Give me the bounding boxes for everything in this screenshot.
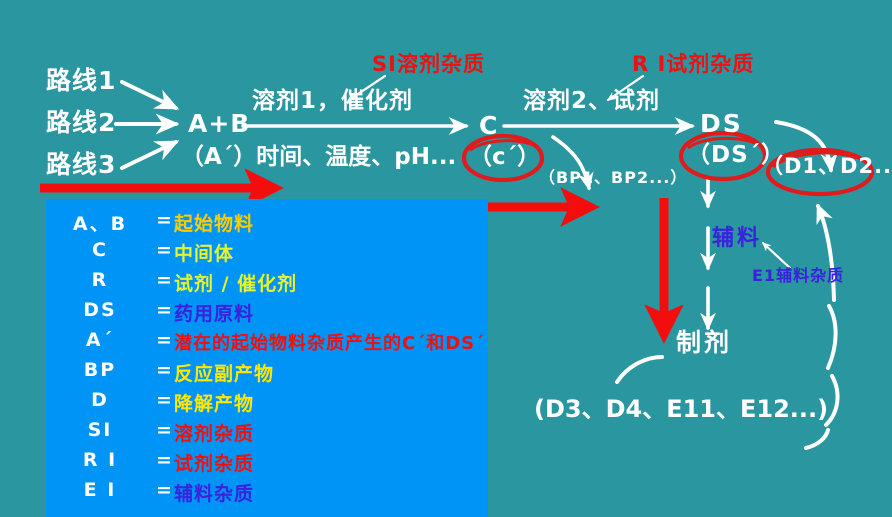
legend-key: D bbox=[46, 389, 154, 411]
legend-equals: = bbox=[156, 389, 172, 411]
excipient-label: 辅料 bbox=[712, 228, 762, 250]
legend-equals: = bbox=[156, 479, 172, 501]
ri-reagent-impurity-annotation: R I试剂杂质 bbox=[632, 54, 754, 75]
legend-row: C = 中间体 bbox=[46, 239, 488, 267]
legend-key: A´ bbox=[46, 329, 154, 351]
legend-row: BP = 反应副产物 bbox=[46, 359, 488, 387]
e1-pointer-arrow bbox=[763, 243, 790, 268]
legend-value: 反应副产物 bbox=[174, 359, 274, 386]
legend-row: R I = 试剂杂质 bbox=[46, 449, 488, 477]
legend-row: A´ = 潜在的起始物料杂质产生的C´和DS´ bbox=[46, 329, 488, 357]
legend-value: 中间体 bbox=[174, 239, 234, 266]
route2-label: 路线2 bbox=[46, 110, 116, 135]
legend-row: DS = 药用原料 bbox=[46, 299, 488, 327]
legend-key: A、B bbox=[46, 209, 154, 236]
c-prime-label: （c´） bbox=[469, 146, 540, 169]
legend-equals: = bbox=[156, 299, 172, 321]
legend-key: BP bbox=[46, 359, 154, 381]
a-prime-conditions-label: （A´）时间、温度、pH... bbox=[181, 146, 456, 169]
ab-label: A+B bbox=[188, 111, 250, 136]
si-solvent-impurity-annotation: SI溶剂杂质 bbox=[372, 54, 485, 75]
route-arrows bbox=[116, 82, 176, 168]
legend-row: R = 试剂 / 催化剂 bbox=[46, 269, 488, 297]
legend-value: 潜在的起始物料杂质产生的C´和DS´ bbox=[174, 329, 485, 355]
legend-key: SI bbox=[46, 419, 154, 441]
legend-value: 溶剂杂质 bbox=[174, 419, 254, 446]
route1-label: 路线1 bbox=[46, 68, 116, 93]
legend-row: D = 降解产物 bbox=[46, 389, 488, 417]
route3-label: 路线3 bbox=[46, 152, 116, 177]
legend-equals: = bbox=[156, 359, 172, 381]
step1-conditions-label: 溶剂1，催化剂 bbox=[252, 90, 413, 113]
legend-key: R I bbox=[46, 449, 154, 471]
byproduct-list-label: （BP1、BP2...） bbox=[539, 170, 687, 186]
legend-row: E I = 辅料杂质 bbox=[46, 479, 488, 507]
legend-equals: = bbox=[156, 209, 172, 231]
legend-value: 起始物料 bbox=[174, 209, 254, 236]
formulation-label: 制剂 bbox=[676, 330, 732, 355]
legend-value: 降解产物 bbox=[174, 389, 254, 416]
legend-equals: = bbox=[156, 239, 172, 261]
legend-value: 试剂杂质 bbox=[174, 449, 254, 476]
legend-equals: = bbox=[156, 329, 172, 351]
c-label: C bbox=[479, 113, 497, 138]
legend-key: E I bbox=[46, 479, 154, 501]
diagram-canvas: 路线1 路线2 路线3 A+B 溶剂1，催化剂 （A´）时间、温度、pH... … bbox=[0, 0, 892, 514]
legend-row: SI = 溶剂杂质 bbox=[46, 419, 488, 447]
e1-excipient-impurity-annotation: E1辅料杂质 bbox=[752, 268, 844, 284]
legend-equals: = bbox=[156, 449, 172, 471]
legend-key: DS bbox=[46, 299, 154, 321]
formulation-impurity-curve bbox=[617, 357, 662, 382]
legend-value: 试剂 / 催化剂 bbox=[174, 269, 297, 296]
legend-value: 辅料杂质 bbox=[174, 479, 254, 506]
legend-panel: A、B = 起始物料 C = 中间体 R = 试剂 / 催化剂 DS = 药用原… bbox=[46, 199, 488, 517]
legend-key: C bbox=[46, 239, 154, 261]
legend-row: A、B = 起始物料 bbox=[46, 209, 488, 237]
legend-value: 药用原料 bbox=[174, 299, 254, 326]
legend-equals: = bbox=[156, 269, 172, 291]
degradant-list-label: （D1、D2...） bbox=[762, 156, 892, 177]
formulation-impurities-label: (D3、D4、E11、E12...) bbox=[534, 397, 828, 421]
ds-label: DS bbox=[700, 111, 743, 136]
legend-equals: = bbox=[156, 419, 172, 441]
step2-conditions-label: 溶剂2、试剂 bbox=[523, 90, 660, 113]
legend-key: R bbox=[46, 269, 154, 291]
